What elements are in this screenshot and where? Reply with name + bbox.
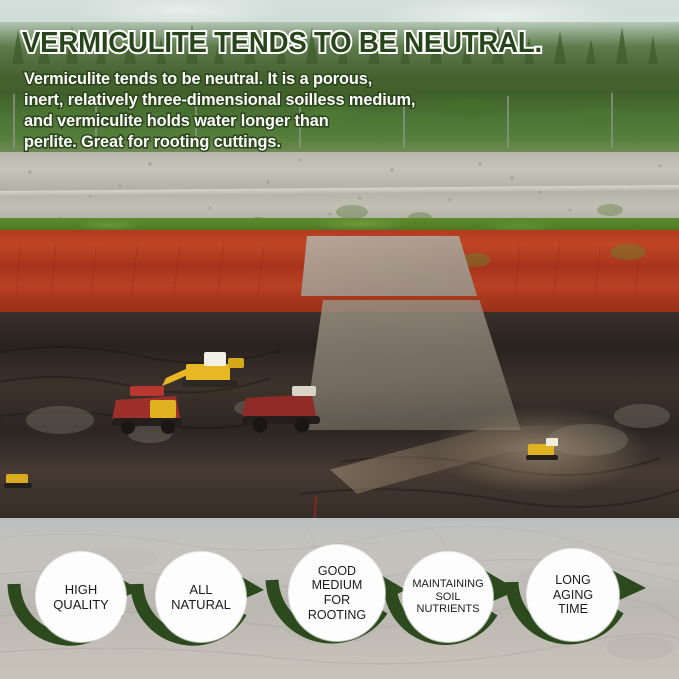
flow-step-label: MAINTAINING SOIL NUTRIENTS bbox=[412, 578, 483, 617]
flow-step-all-natural[interactable]: ALL NATURAL bbox=[156, 552, 246, 642]
page-title: VERMICULITE TENDS TO BE NEUTRAL. bbox=[22, 27, 542, 60]
body-line-3: and vermiculite holds water longer than bbox=[24, 110, 475, 131]
body-line-4: perlite. Great for rooting cuttings. bbox=[24, 131, 475, 152]
dump-truck-icon-left bbox=[112, 386, 182, 434]
small-machine-icon bbox=[4, 474, 32, 488]
loader-icon bbox=[526, 438, 558, 460]
body-line-2: inert, relatively three-dimensional soil… bbox=[24, 89, 475, 110]
flow-step-label: LONG AGING TIME bbox=[553, 573, 593, 617]
flow-step-long-aging-time[interactable]: LONG AGING TIME bbox=[527, 549, 619, 641]
dump-truck-icon-right bbox=[242, 386, 320, 433]
body-line-1: Vermiculite tends to be neutral. It is a… bbox=[24, 68, 475, 89]
excavator-icon bbox=[162, 352, 244, 387]
flow-step-good-medium[interactable]: GOOD MEDIUM FOR ROOTING bbox=[289, 545, 385, 641]
benefits-flow-diagram: HIGH QUALITY ALL NATURAL GOOD MEDIUM FOR… bbox=[0, 518, 679, 679]
flow-step-high-quality[interactable]: HIGH QUALITY bbox=[36, 552, 126, 642]
flow-step-label: GOOD MEDIUM FOR ROOTING bbox=[308, 564, 366, 623]
body-copy: Vermiculite tends to be neutral. It is a… bbox=[24, 68, 475, 152]
flow-step-label: ALL NATURAL bbox=[171, 582, 231, 613]
poster-root: VERMICULITE TENDS TO BE NEUTRAL. Vermicu… bbox=[0, 0, 679, 679]
flow-step-soil-nutrients[interactable]: MAINTAINING SOIL NUTRIENTS bbox=[403, 552, 493, 642]
flow-step-label: HIGH QUALITY bbox=[53, 582, 109, 613]
